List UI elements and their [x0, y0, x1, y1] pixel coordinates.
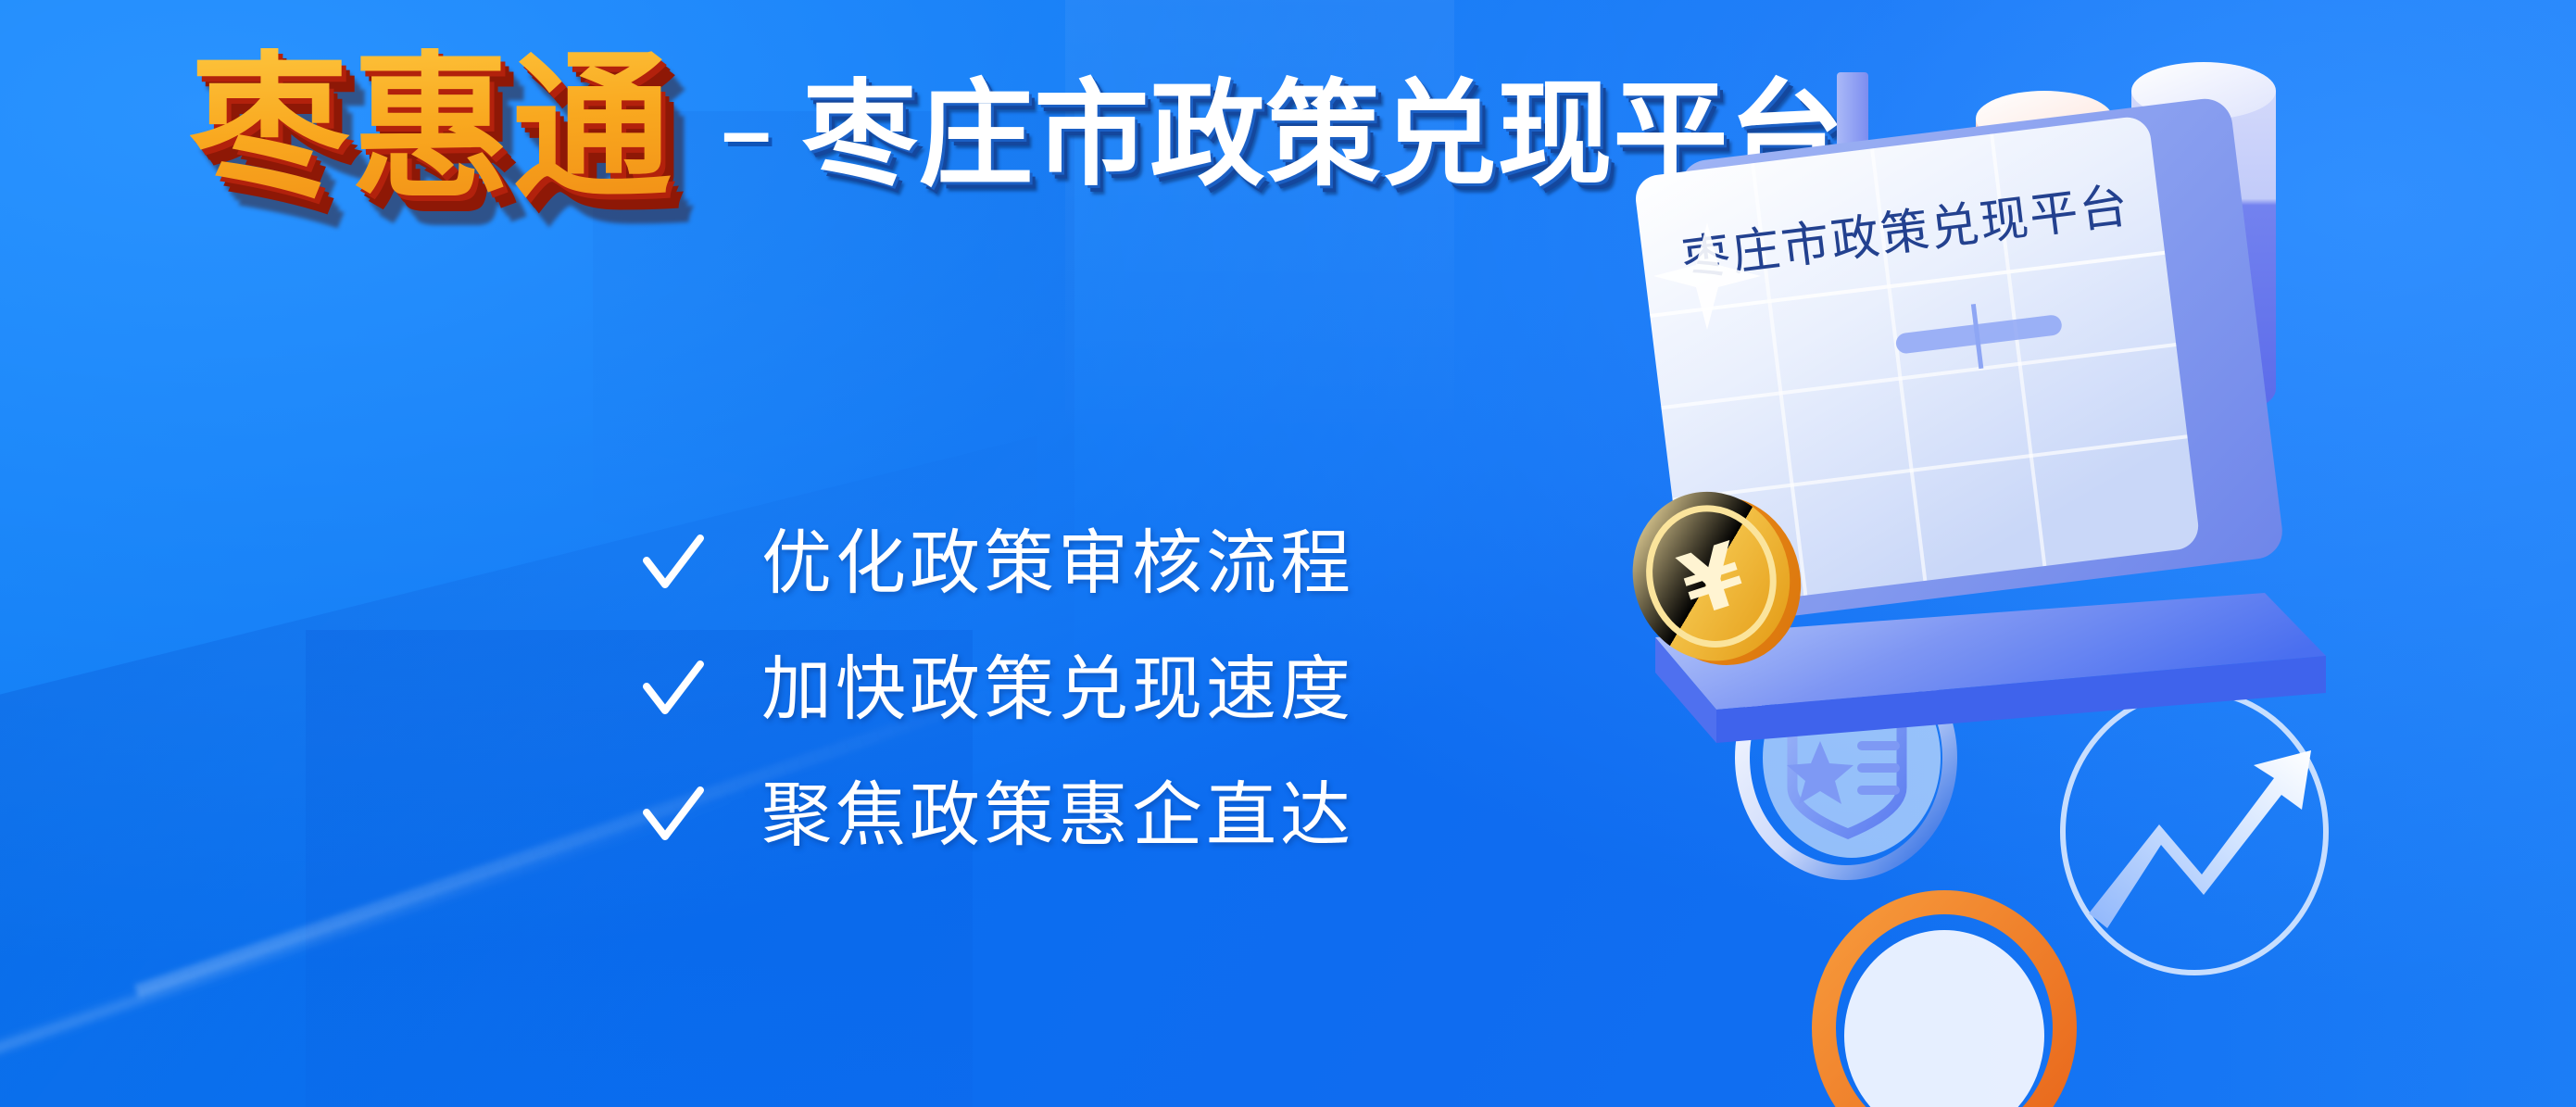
brand-logo-text: 枣惠通 [190, 48, 681, 208]
feature-item: 聚焦政策惠企直达 [639, 780, 1354, 850]
feature-label: 优化政策审核流程 [761, 528, 1354, 598]
feature-item: 加快政策兑现速度 [639, 654, 1354, 724]
feature-label: 聚焦政策惠企直达 [761, 780, 1354, 850]
check-icon [639, 655, 708, 723]
banner-illustration: 枣庄市政策兑现平台 [1594, 0, 2576, 1107]
trend-circle-outline [2063, 691, 2326, 973]
check-icon [639, 529, 708, 598]
badge-line-1 [1857, 741, 1900, 750]
badge-line-2 [1857, 763, 1900, 773]
feature-item: 优化政策审核流程 [639, 528, 1354, 598]
feature-label: 加快政策兑现速度 [761, 654, 1354, 724]
headline-separator: – [722, 87, 771, 176]
orange-ring-fill [1844, 930, 2044, 1107]
policy-platform-banner: 枣惠通 – 枣庄市政策兑现平台 优化政策审核流程 加快政策兑现速度 聚焦政策惠企… [0, 0, 2576, 1107]
feature-list: 优化政策审核流程 加快政策兑现速度 聚焦政策惠企直达 [639, 528, 1354, 850]
trend-arrow-badge [2063, 691, 2326, 973]
trend-arrow-icon [2089, 750, 2311, 928]
orange-ring [1824, 902, 2065, 1107]
badge-line-3 [1857, 786, 1900, 795]
check-icon [639, 781, 708, 849]
